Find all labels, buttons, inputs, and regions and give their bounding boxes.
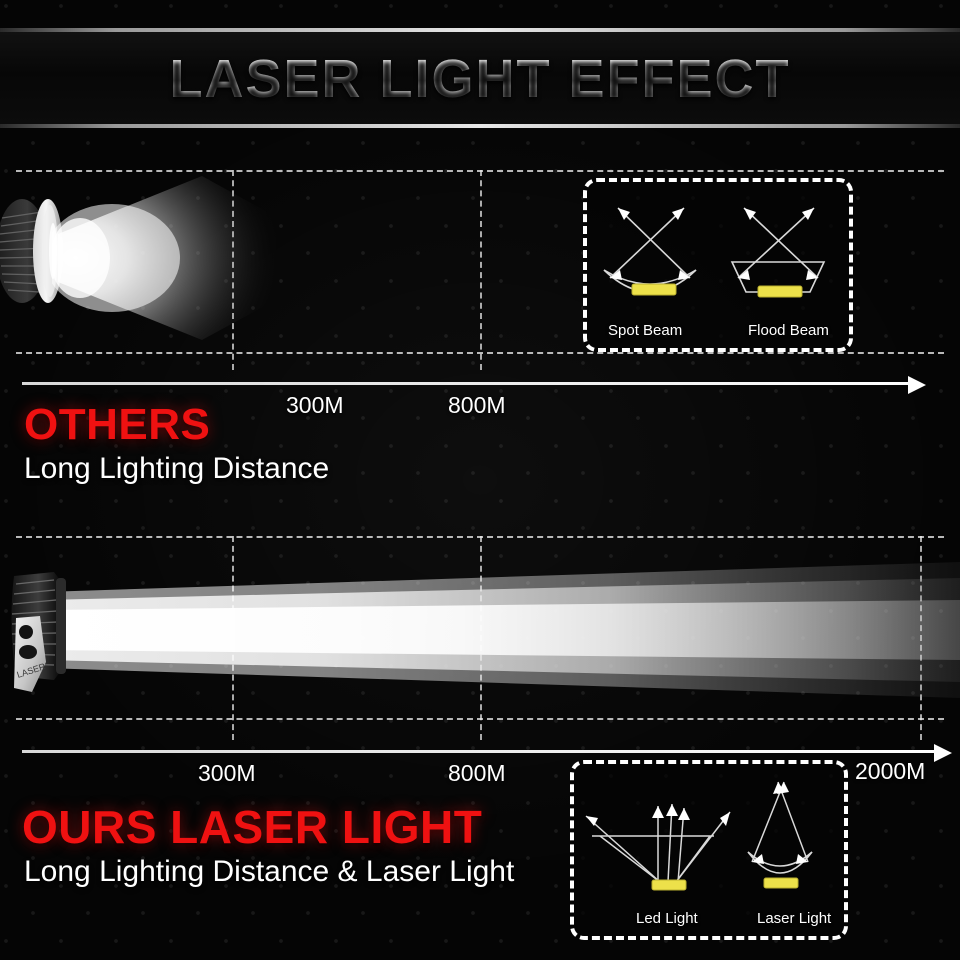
ours-headline: OURS LASER LIGHT <box>22 800 482 854</box>
inset-label-flood-beam: Flood Beam <box>748 322 829 339</box>
beam-pattern-diagram-top <box>592 186 838 318</box>
ours-laser-beam <box>40 548 960 708</box>
inset-label-laser-light: Laser Light <box>757 910 831 927</box>
ours-tick-300m: 300M <box>198 760 256 787</box>
page-title: LASER LIGHT EFFECT <box>0 44 960 114</box>
ours-tick-2000m: 2000M <box>855 758 925 785</box>
ours-gridline-800m <box>480 536 482 740</box>
others-axis-arrowhead <box>908 376 926 394</box>
others-light-beam <box>52 172 312 342</box>
ours-subtitle: Long Lighting Distance & Laser Light <box>24 855 514 889</box>
laser-bar-light-lamp: LASER <box>2 566 84 698</box>
others-gridline-800m <box>480 170 482 370</box>
others-tick-800m: 800M <box>448 392 506 419</box>
others-subtitle: Long Lighting Distance <box>24 452 329 486</box>
header-rule-bottom <box>0 124 960 128</box>
ours-tick-800m: 800M <box>448 760 506 787</box>
ours-gridline-300m <box>232 536 234 740</box>
others-distance-axis <box>22 382 912 385</box>
round-headlight-lamp <box>0 196 70 306</box>
others-gridline-300m <box>232 170 234 370</box>
ours-distance-axis <box>22 750 938 753</box>
beam-pattern-diagram-bottom <box>580 770 832 908</box>
ours-axis-arrowhead <box>934 744 952 762</box>
ours-gridline-2000m <box>920 536 922 740</box>
inset-label-led-light: Led Light <box>636 910 698 927</box>
header-rule-top <box>0 28 960 32</box>
laser-light-effect-poster: LASER LIGHT EFFECT <box>0 0 960 960</box>
others-tick-300m: 300M <box>286 392 344 419</box>
others-headline: OTHERS <box>24 400 210 450</box>
inset-label-spot-beam: Spot Beam <box>608 322 682 339</box>
